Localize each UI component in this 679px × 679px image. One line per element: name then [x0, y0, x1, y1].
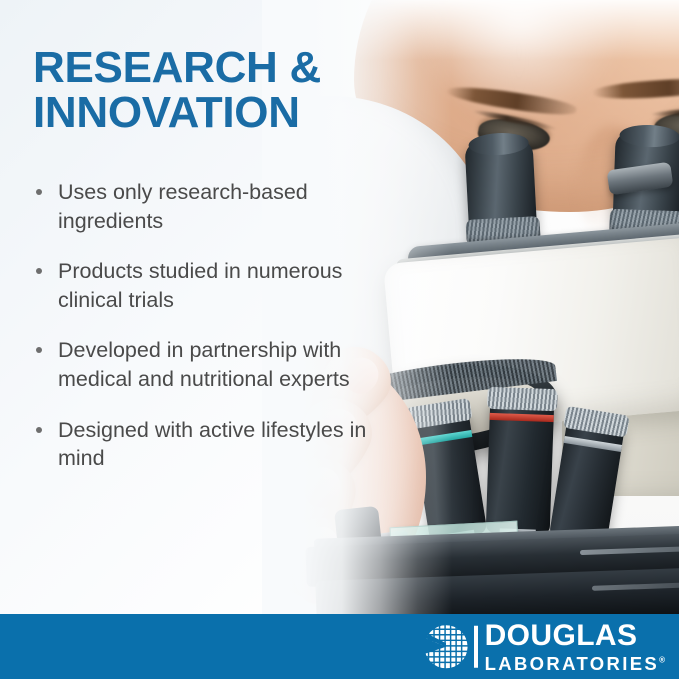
list-item-label: Uses only research-based ingredients [58, 180, 308, 233]
list-item-label: Designed with active lifestyles in mind [58, 418, 366, 471]
bullet-dot-icon [36, 189, 42, 195]
registered-mark-icon: ® [659, 655, 665, 664]
list-item-label: Products studied in numerous clinical tr… [58, 259, 342, 312]
brand-footer-bar: DOUGLAS LABORATORIES® [0, 614, 679, 679]
list-item: Designed with active lifestyles in mind [33, 416, 385, 473]
list-item: Products studied in numerous clinical tr… [33, 257, 385, 314]
eyepiece-left [464, 138, 537, 241]
list-item: Developed in partnership with medical an… [33, 336, 385, 393]
brand-name-secondary: LABORATORIES® [485, 654, 665, 673]
brand-name-primary: DOUGLAS [485, 620, 665, 650]
list-item-label: Developed in partnership with medical an… [58, 338, 350, 391]
eyepiece-cap-right [619, 124, 679, 148]
feature-list: Uses only research-based ingredients Pro… [33, 178, 385, 473]
promo-card: RESEARCH & INNOVATION Uses only research… [0, 0, 679, 679]
page-title: RESEARCH & INNOVATION [33, 46, 373, 136]
objective-lens-grey [549, 416, 625, 546]
bullet-dot-icon [36, 347, 42, 353]
bullet-dot-icon [36, 268, 42, 274]
grid-circle-logo-icon [423, 624, 469, 670]
objective-collar [487, 387, 558, 411]
page-title-line-2: INNOVATION [33, 91, 373, 136]
bullet-dot-icon [36, 427, 42, 433]
brand-name-secondary-text: LABORATORIES [485, 652, 660, 673]
objective-color-band [564, 436, 622, 452]
douglas-laboratories-logo: DOUGLAS LABORATORIES® [423, 620, 665, 673]
logo-wordmark: DOUGLAS LABORATORIES® [485, 620, 665, 673]
list-item: Uses only research-based ingredients [33, 178, 385, 235]
logo-divider [474, 626, 478, 668]
objective-lens-red [486, 397, 555, 535]
objective-color-band [490, 413, 554, 422]
page-title-line-1: RESEARCH & [33, 46, 373, 91]
objective-color-band [414, 430, 472, 446]
text-column: RESEARCH & INNOVATION Uses only research… [0, 0, 400, 618]
